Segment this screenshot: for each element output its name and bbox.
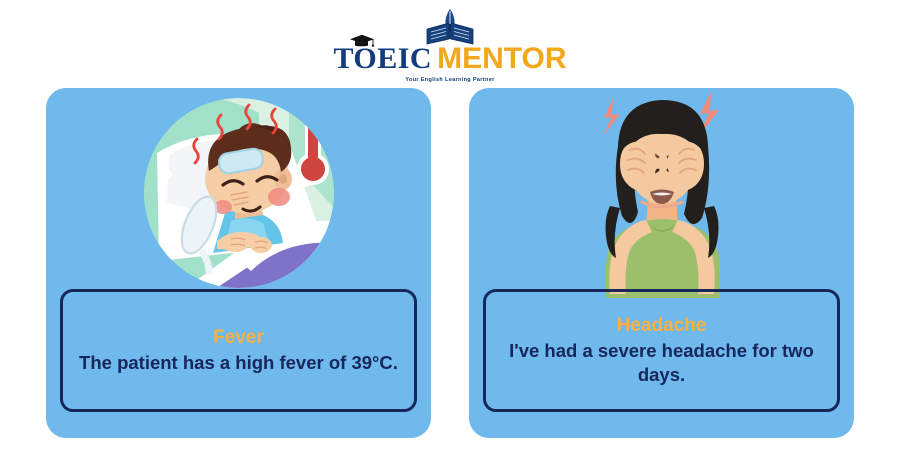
symptom-card-headache[interactable]: Headache I've had a severe headache for … xyxy=(469,88,854,438)
symptom-card-list: Fever The patient has a high fever of 39… xyxy=(46,88,854,438)
symptom-body: The patient has a high fever of 39°C. xyxy=(79,351,398,375)
logo-tagline: Your English Learning Partner xyxy=(405,77,494,83)
logo-text-toeic: TOEIC xyxy=(333,44,432,74)
symptom-title: Fever xyxy=(213,326,264,350)
symptom-title: Headache xyxy=(617,314,707,338)
symptom-textbox-fever: Fever The patient has a high fever of 39… xyxy=(60,289,417,412)
open-book-quill-icon xyxy=(418,8,482,46)
logo-text-mentor: MENTOR xyxy=(437,44,566,74)
sick-boy-in-bed-with-thermometer-illustration xyxy=(46,88,431,298)
logo-wordmark: TOEIC MENTOR xyxy=(333,44,566,74)
brand-logo: TOEIC MENTOR Your English Learning Partn… xyxy=(0,8,900,82)
woman-holding-head-headache-illustration xyxy=(469,88,854,298)
symptom-card-fever[interactable]: Fever The patient has a high fever of 39… xyxy=(46,88,431,438)
symptom-textbox-headache: Headache I've had a severe headache for … xyxy=(483,289,840,412)
symptom-body: I've had a severe headache for two days. xyxy=(498,339,825,387)
